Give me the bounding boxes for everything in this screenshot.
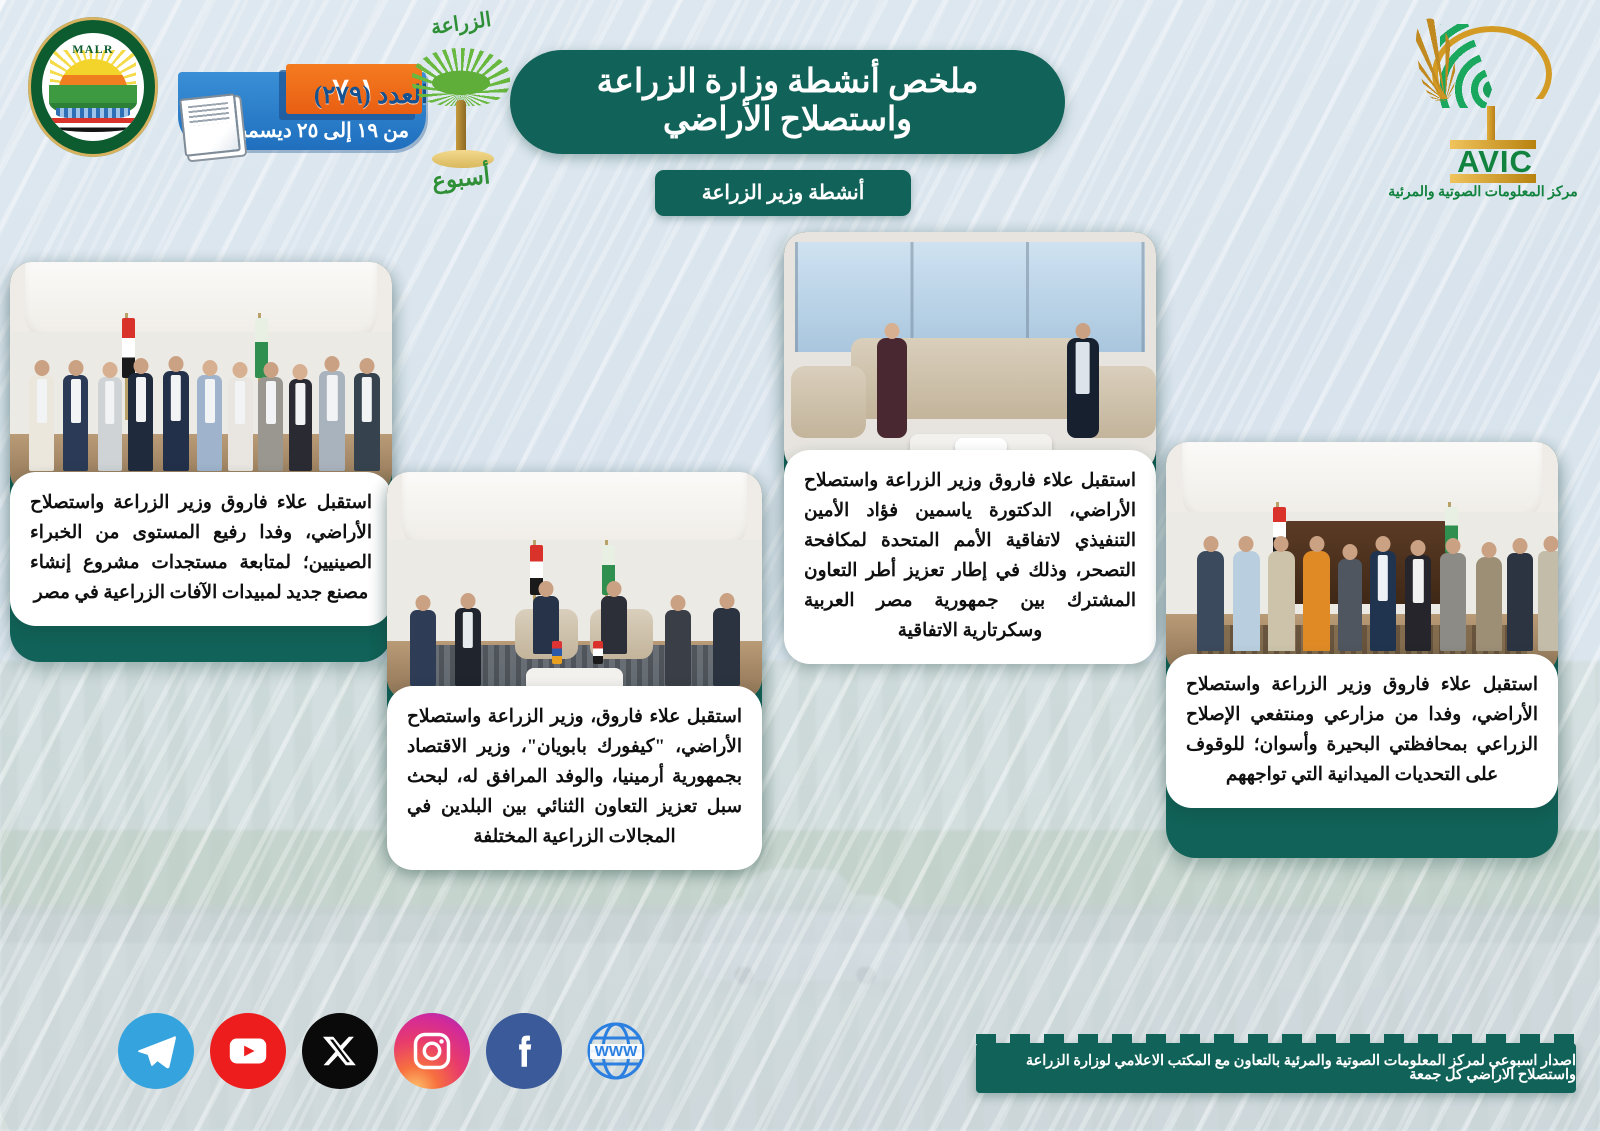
footer-note: اصدار اسبوعي لمركز المعلومات الصوتية وال… (976, 1043, 1576, 1093)
news-photo-china-experts (10, 262, 392, 494)
background-car (700, 895, 910, 981)
newspaper-icon (179, 93, 241, 157)
ministry-logo: MALR (28, 17, 158, 157)
telegram-icon[interactable] (118, 1013, 194, 1089)
news-caption-armenia: استقبل علاء فاروق، وزير الزراعة واستصلاح… (387, 686, 762, 870)
avic-arabic-name: مركز المعلومات الصوتية والمرئية (1388, 186, 1578, 200)
news-card-unccd: استقبل علاء فاروق وزير الزراعة واستصلاح … (784, 232, 1156, 644)
agriculture-week-logo: الزراعة أسبوع (396, 12, 526, 190)
avic-name: AVIC (1440, 146, 1550, 176)
youtube-icon[interactable] (210, 1013, 286, 1089)
news-card-farmers: استقبل علاء فاروق وزير الزراعة واستصلاح … (1166, 442, 1558, 858)
issue-badge: من ١٩ إلى ٢٥ ديسمبر ٢٠٢٥ ١-٧ العدد (٢٧٩) (178, 64, 426, 156)
avic-logo: AVIC مركز المعلومات الصوتية والمرئية (1388, 10, 1578, 180)
palm-trunk-icon (456, 100, 466, 156)
palm-tree-icon (412, 48, 510, 106)
news-photo-unccd (784, 232, 1156, 472)
page-title: ملخص أنشطة وزارة الزراعة واستصلاح الأراض… (510, 50, 1065, 154)
palm-label-top: الزراعة (395, 5, 527, 43)
ministry-logo-inner: MALR (42, 33, 144, 141)
website-icon[interactable]: WWW (578, 1013, 654, 1089)
x-twitter-icon[interactable] (302, 1013, 378, 1089)
facebook-icon[interactable] (486, 1013, 562, 1089)
news-caption-unccd: استقبل علاء فاروق وزير الزراعة واستصلاح … (784, 450, 1156, 664)
newsletter-poster: MALR من ١٩ إلى ٢٥ ديسمبر ٢٠٢٥ ١-٧ العدد … (0, 0, 1600, 1131)
news-caption-farmers: استقبل علاء فاروق وزير الزراعة واستصلاح … (1166, 654, 1558, 808)
social-links: WWW (118, 1013, 654, 1089)
instagram-icon[interactable] (394, 1013, 470, 1089)
avic-bar-bottom (1450, 174, 1536, 183)
svg-text:WWW: WWW (595, 1043, 638, 1060)
news-photo-farmers (1166, 442, 1558, 674)
news-photo-armenia (387, 472, 762, 700)
news-caption-china-experts: استقبل علاء فاروق وزير الزراعة واستصلاح … (10, 472, 392, 626)
section-title: أنشطة وزير الزراعة (655, 170, 911, 216)
ministry-logo-acronym: MALR (42, 43, 144, 55)
news-card-armenia: استقبل علاء فاروق، وزير الزراعة واستصلاح… (387, 472, 762, 862)
news-card-china-experts: استقبل علاء فاروق وزير الزراعة واستصلاح … (10, 262, 392, 662)
palm-label-bottom: أسبوع (395, 160, 527, 196)
